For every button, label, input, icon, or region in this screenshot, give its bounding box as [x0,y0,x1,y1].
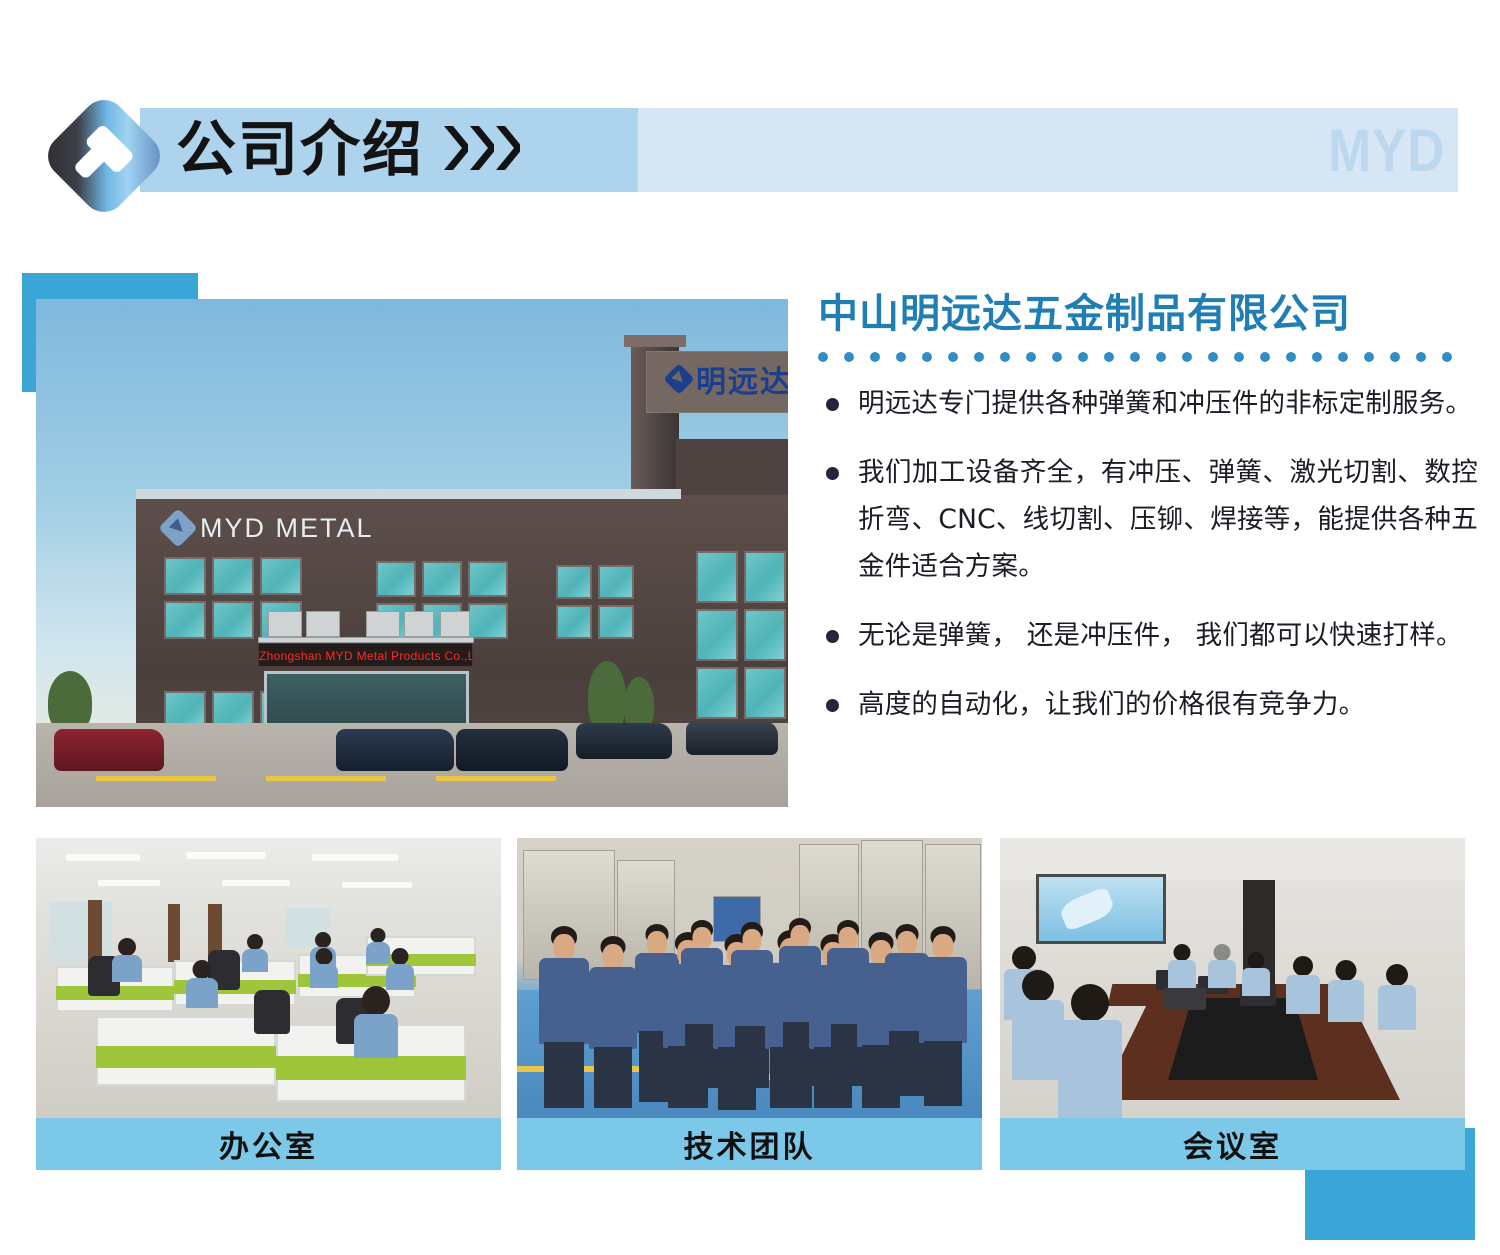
page-title-label: 公司介绍 [176,108,424,192]
workstation-panel [96,1046,276,1068]
facility-card-meeting: 会议室 [1000,838,1465,1170]
meeting-attendee [1208,944,1236,988]
office-worker [386,948,414,990]
facade-sign-logo-icon [158,508,198,548]
list-item: 无论是弹簧， 还是冲压件， 我们都可以快速打样。 [818,612,1478,659]
parking-line [96,776,216,781]
roof-sign-text: 明远达 [696,357,788,401]
card-caption: 办公室 [36,1118,501,1170]
facade-sign-text: MYD METAL [200,509,374,547]
cad-model-graphic [1058,886,1117,931]
meeting-room-photo [1000,838,1465,1120]
meeting-attendee [1058,984,1122,1120]
factory-building-photo: 明远达 MYD METAL Zhongshan MYD Metal Produc… [36,299,788,807]
company-name: 中山明远达五金制品有限公司 [818,288,1478,340]
building-tower-cap [624,335,686,347]
facility-card-team: 技术团队 [517,838,982,1170]
office-worker [310,948,338,988]
ceiling-light [342,882,412,888]
page-title: 公司介绍 [176,108,520,192]
ceiling-light [66,854,140,861]
dotted-divider [818,352,1478,362]
ac-unit [306,611,340,637]
projector [1164,988,1206,1010]
window-group [556,565,634,639]
meeting-attendee [1286,956,1320,1014]
office-photo [36,838,501,1120]
office-worker [112,938,142,982]
brand-watermark: MYD [1328,112,1445,190]
team-member [589,936,637,1108]
meeting-attendee [1328,960,1364,1022]
roof-sign-chinese: 明远达 [668,357,788,401]
meeting-attendee [1242,952,1270,996]
meeting-attendee [1012,970,1064,1080]
office-worker [354,986,398,1058]
ceiling-light [186,852,266,859]
parked-car [54,729,164,771]
card-caption: 技术团队 [517,1118,982,1170]
facility-card-row: 办公室 技术团 [0,838,1500,1178]
team-photo [517,838,982,1120]
chevron-right-triple-icon [444,126,520,170]
ac-unit [366,611,400,637]
entrance-sign: Zhongshan MYD Metal Products Co.,Ltd [258,643,473,667]
office-worker [186,960,218,1008]
parking-line [266,776,386,781]
office-door [168,904,180,962]
presentation-screen [1036,874,1166,944]
workstation-panel [276,1056,466,1080]
myd-diamond-logo-icon [34,86,174,226]
roof-sign-logo-icon [663,363,694,394]
ceiling-light [312,854,398,861]
team-member [539,926,589,1108]
list-item: 我们加工设备齐全，有冲压、弹簧、激光切割、数控折弯、CNC、线切割、压铆、焊接等… [818,449,1478,590]
ac-unit [440,611,470,637]
ceiling-light [98,880,160,886]
building-roofline [136,489,681,499]
parking-line [436,776,556,781]
office-glass-partition [50,902,112,964]
parked-car [576,723,672,759]
list-item: 高度的自动化，让我们的价格很有竞争力。 [818,681,1478,728]
parked-car [336,729,454,771]
office-chair [254,990,290,1034]
window-group [696,551,788,719]
page-header: MYD 公司介绍 [0,0,1500,240]
ac-unit [404,611,434,637]
bottom-corner-accent-mask [1305,1128,1465,1170]
company-info-panel: 中山明远达五金制品有限公司 明远达专门提供各种弹簧和冲压件的非标定制服务。 我们… [818,288,1478,750]
facility-card-office: 办公室 [36,838,501,1170]
ac-unit [268,611,302,637]
ceiling-light [222,880,290,886]
meeting-attendee [1378,964,1416,1030]
parked-car [686,721,778,755]
feature-bullet-list: 明远达专门提供各种弹簧和冲压件的非标定制服务。 我们加工设备齐全，有冲压、弹簧、… [818,380,1478,728]
facade-sign: MYD METAL [164,509,454,547]
list-item: 明远达专门提供各种弹簧和冲压件的非标定制服务。 [818,380,1478,427]
office-worker [242,934,268,972]
meeting-attendee [1168,944,1196,988]
parked-car [456,729,568,771]
team-member [919,926,967,1106]
